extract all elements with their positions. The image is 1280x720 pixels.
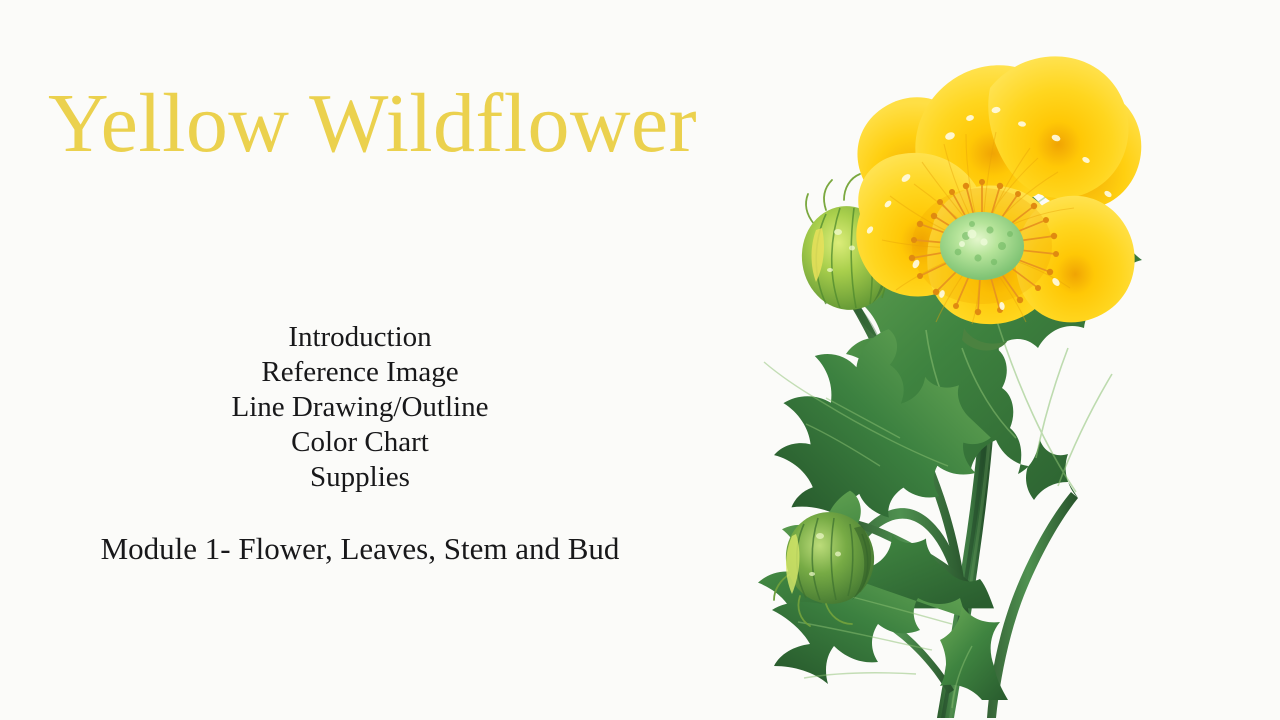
yellow-wildflower-illustration [756, 18, 1156, 718]
module-label: Module 1- Flower, Leaves, Stem and Bud [60, 531, 660, 567]
list-item: Supplies [60, 460, 660, 495]
right-leaf-stem [987, 492, 1078, 718]
list-item: Reference Image [60, 355, 660, 390]
slide-canvas: Yellow Wildflower Introduction Reference… [0, 0, 1280, 720]
list-item: Line Drawing/Outline [60, 390, 660, 425]
list-item: Color Chart [60, 425, 660, 460]
list-item: Introduction [60, 320, 660, 355]
contents-list: Introduction Reference Image Line Drawin… [60, 320, 660, 495]
page-title: Yellow Wildflower [48, 82, 697, 166]
